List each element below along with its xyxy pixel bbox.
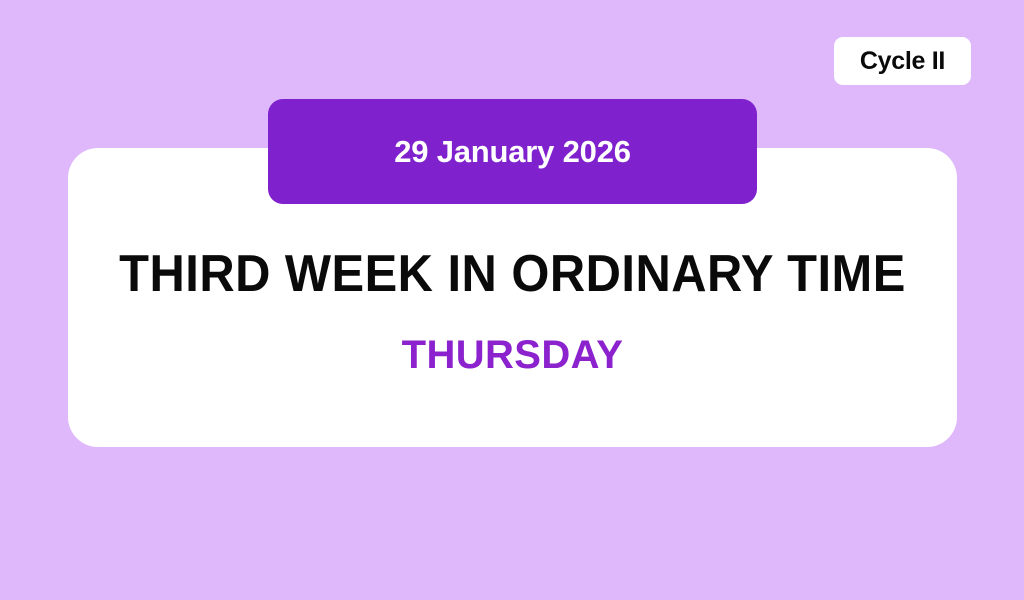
cycle-badge-label: Cycle II [860,49,945,74]
season-title: THIRD WEEK IN ORDINARY TIME [95,248,931,300]
date-banner-label: 29 January 2026 [394,136,631,167]
weekday-title: THURSDAY [68,335,957,375]
date-banner: 29 January 2026 [268,99,757,204]
liturgical-day-screen: Cycle II 29 January 2026 THIRD WEEK IN O… [0,0,1024,600]
cycle-badge: Cycle II [834,37,971,85]
